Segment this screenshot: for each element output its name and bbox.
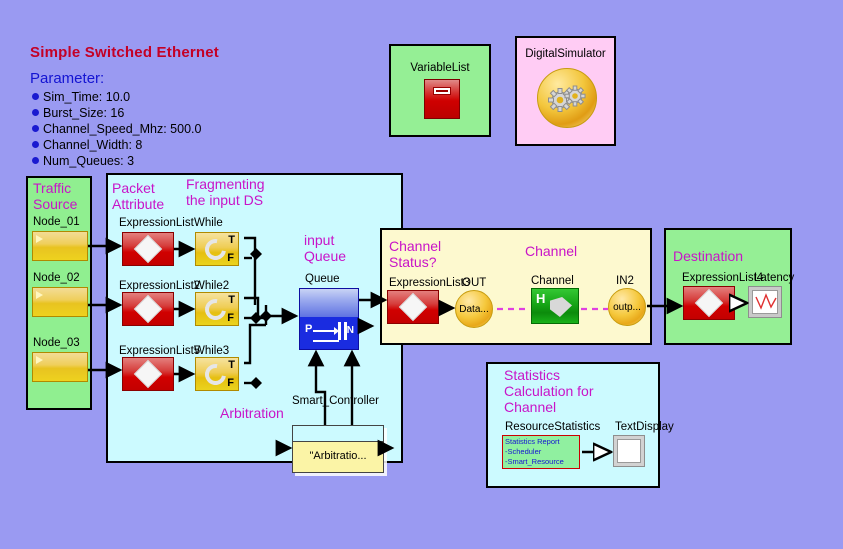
page-title: Simple Switched Ethernet xyxy=(30,44,219,61)
arbitration-text: "Arbitratio... xyxy=(293,442,383,462)
channel-flag-icon xyxy=(550,297,572,317)
expression-list-block[interactable] xyxy=(122,357,174,391)
loop-icon xyxy=(201,235,230,264)
bullet-icon xyxy=(32,141,39,148)
resource-statistics-block[interactable]: Statistics Report -Scheduler -Smart_Reso… xyxy=(502,435,580,469)
diamond-icon xyxy=(134,235,162,263)
expression-list-block[interactable] xyxy=(122,292,174,326)
bullet-icon xyxy=(32,157,39,164)
queue-arrow-icon xyxy=(313,330,335,332)
queue-bar xyxy=(338,322,341,340)
digital-simulator-panel[interactable]: DigitalSimulator xyxy=(515,36,616,146)
smart-controller-block[interactable]: "Arbitratio... xyxy=(292,425,384,473)
channel-block-label: Channel xyxy=(531,275,574,287)
play-icon xyxy=(36,291,43,299)
channel-heading: Channel xyxy=(525,243,577,259)
while-false-port[interactable]: F xyxy=(227,377,234,389)
channel-h-glyph: H xyxy=(536,291,545,306)
while-block[interactable]: T F xyxy=(195,232,239,266)
block-header xyxy=(293,426,383,442)
while-label: While3 xyxy=(194,345,229,357)
parameters-heading: Parameter: xyxy=(30,70,104,87)
latency-label: Latency xyxy=(754,272,794,284)
parameter-item: Channel_Speed_Mhz: 500.0 xyxy=(32,122,201,136)
while-true-port[interactable]: T xyxy=(228,359,235,371)
channel-status-heading: Channel Status? xyxy=(389,238,441,270)
queue-baseline xyxy=(313,340,339,342)
channel-block[interactable]: H xyxy=(531,288,579,324)
destination-heading: Destination xyxy=(673,248,743,264)
while-false-port[interactable]: F xyxy=(227,252,234,264)
diamond-icon xyxy=(134,360,162,388)
diamond-icon xyxy=(695,289,723,317)
variable-list-glyph xyxy=(433,87,451,95)
fragmenting-heading: Fragmenting the input DS xyxy=(186,176,265,208)
variable-list-icon[interactable] xyxy=(424,79,460,119)
while-true-port[interactable]: T xyxy=(228,294,235,306)
queue-port-n: N xyxy=(347,325,354,336)
latency-plot-block[interactable] xyxy=(748,286,782,318)
smart-controller-label: Smart_Controller xyxy=(292,395,379,407)
out-port-label: OUT xyxy=(462,277,486,289)
plot-area xyxy=(752,290,778,314)
expression-list-block[interactable] xyxy=(122,232,174,266)
destination-expression-block[interactable] xyxy=(683,286,735,320)
expression-list-label: ExpressionList2 xyxy=(119,280,200,292)
expression-list-label: ExpressionList5 xyxy=(119,345,200,357)
diagram-canvas: Simple Switched Ethernet Parameter: Sim_… xyxy=(0,0,843,549)
traffic-source-node[interactable] xyxy=(32,352,88,382)
node-label: Node_03 xyxy=(33,337,80,349)
parameter-item: Burst_Size: 16 xyxy=(32,106,201,120)
while-true-port[interactable]: T xyxy=(228,234,235,246)
arbitration-heading: Arbitration xyxy=(220,405,284,421)
display-area xyxy=(617,439,641,463)
digital-simulator-label: DigitalSimulator xyxy=(525,48,606,60)
report-line: -Smart_Resource xyxy=(505,457,577,467)
play-icon xyxy=(36,356,43,364)
queue-label: Queue xyxy=(305,273,340,285)
bullet-icon xyxy=(32,125,39,132)
parameter-item: Channel_Width: 8 xyxy=(32,138,201,152)
input-queue-heading: input Queue xyxy=(304,232,346,264)
node-label: Node_02 xyxy=(33,272,80,284)
parameter-list: Sim_Time: 10.0 Burst_Size: 16 Channel_Sp… xyxy=(32,90,201,168)
variable-list-label: VariableList xyxy=(410,62,469,74)
diamond-icon xyxy=(134,295,162,323)
report-line: Statistics Report xyxy=(505,437,577,447)
play-icon xyxy=(36,235,43,243)
traffic-source-heading: Traffic Source xyxy=(33,180,77,212)
loop-icon xyxy=(201,360,230,389)
while-label: While2 xyxy=(194,280,229,292)
queue-fill-indicator xyxy=(300,289,358,317)
expression-list-label: ExpressionList3 xyxy=(389,277,470,289)
gears-icon[interactable] xyxy=(537,68,597,128)
queue-port-p: P xyxy=(305,323,312,335)
while-block[interactable]: T F xyxy=(195,357,239,391)
packet-attribute-heading: Packet Attribute xyxy=(112,180,164,212)
text-display-label: TextDisplay xyxy=(615,421,674,433)
parameter-item: Sim_Time: 10.0 xyxy=(32,90,201,104)
while-block[interactable]: T F xyxy=(195,292,239,326)
expression-list-label: ExpressionList xyxy=(119,217,194,229)
while-label: While xyxy=(194,217,223,229)
node-label: Node_01 xyxy=(33,216,80,228)
loop-icon xyxy=(201,295,230,324)
variable-list-panel[interactable]: VariableList xyxy=(389,44,491,137)
traffic-source-node[interactable] xyxy=(32,287,88,317)
diamond-icon xyxy=(399,293,427,321)
out-port-circle[interactable]: Data... xyxy=(455,290,493,328)
waveform-icon xyxy=(753,291,779,313)
parameter-item: Num_Queues: 3 xyxy=(32,154,201,168)
channel-expression-block[interactable] xyxy=(387,290,439,324)
expression-list-label: ExpressionList4 xyxy=(682,272,763,284)
statistics-heading: Statistics Calculation for Channel xyxy=(504,367,594,415)
traffic-source-node[interactable] xyxy=(32,231,88,261)
in-port-circle[interactable]: outp... xyxy=(608,288,646,326)
bullet-icon xyxy=(32,109,39,116)
queue-block[interactable]: P N xyxy=(299,288,359,350)
text-display-block[interactable] xyxy=(613,435,645,467)
while-false-port[interactable]: F xyxy=(227,312,234,324)
bullet-icon xyxy=(32,93,39,100)
resource-statistics-label: ResourceStatistics xyxy=(505,421,600,433)
in-port-label: IN2 xyxy=(616,275,634,287)
report-line: -Scheduler xyxy=(505,447,577,457)
